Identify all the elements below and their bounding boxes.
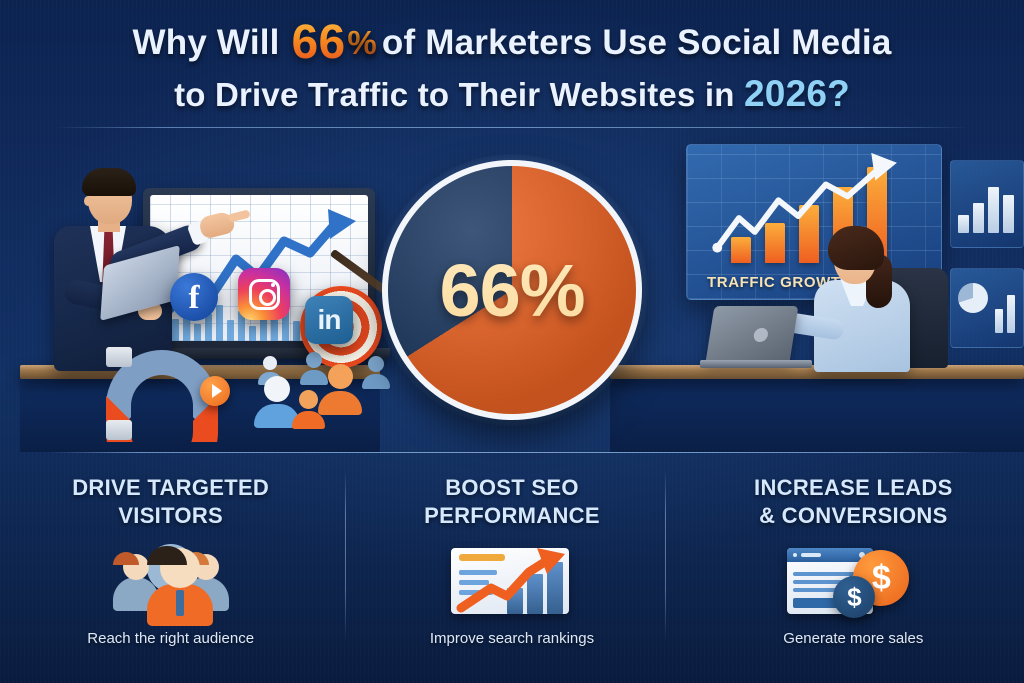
businesswoman-hair [828,226,884,270]
avatar-large-orange [318,364,362,415]
title-line-2: to Drive Traffic to Their Websites in 20… [0,74,1024,115]
instagram-camera-glyph [249,279,280,310]
laptop-right-base [700,360,812,368]
title-line2-text: to Drive Traffic to Their Websites in [174,75,735,115]
title-highlight-year: 2026? [744,74,850,114]
bottom-divider [48,452,976,453]
benefit-subtitle-1: Reach the right audience [87,630,254,647]
people-group-icon [0,538,341,624]
title-highlight-number: 66 [292,22,346,64]
side-screen-bars [950,160,1024,248]
benefit-heading-2: BOOST SEO PERFORMANCE [424,474,600,530]
magnet-tip-top [106,347,132,367]
header: Why Will 66%of Marketers Use Social Medi… [0,0,1024,128]
benefit-column-boost-seo-performance: BOOST SEO PERFORMANCE Impr [341,452,682,683]
benefit-subtitle-2: Improve search rankings [430,630,594,647]
benefit-heading-1: DRIVE TARGETED VISITORS [72,474,269,530]
title-part-post: of Marketers Use Social Media [382,22,892,64]
person-center-tie [176,590,184,616]
play-button-icon[interactable] [200,376,230,406]
title-part-pre: Why Will [133,22,280,64]
magnet-tip-bottom [106,420,132,440]
column-divider-2 [665,470,666,640]
infographic-canvas: Why Will 66%of Marketers Use Social Medi… [0,0,1024,683]
laptop-right-lid [706,306,799,362]
column-divider-1 [345,470,346,640]
seo-chart-glyph [451,544,573,618]
person-left-hair [113,552,139,565]
linkedin-glyph: in [318,306,341,334]
businesswoman-figure [790,220,940,370]
illustration-scene: f in [0,128,1024,452]
donut-value-label: 66% [382,160,642,420]
instagram-icon[interactable] [238,268,290,320]
laptop-logo [753,328,769,342]
facebook-glyph: f [189,282,200,315]
side-screen-pie [950,268,1024,348]
dollar-coin-blue: $ [833,576,875,618]
header-divider [55,127,969,128]
title-highlight-percent: % [347,22,377,64]
leads-glyph: $ $ [787,544,919,618]
webpage-dollar-icon: $ $ [683,538,1024,624]
linkedin-icon[interactable]: in [305,296,353,344]
benefit-heading-3: INCREASE LEADS & CONVERSIONS [754,474,953,530]
chart-arrow-up-icon [341,538,682,624]
laptop-right [700,306,804,368]
seo-orange-arrow [455,546,569,614]
desk-front-right [610,379,1024,452]
benefit-column-drive-targeted-visitors: DRIVE TARGETED VISITORS [0,452,341,683]
donut-chart: 66% [382,160,642,420]
facebook-icon[interactable]: f [170,273,218,321]
benefit-subtitle-3: Generate more sales [783,630,923,647]
people-group-glyph [107,542,235,620]
benefit-column-increase-leads-conversions: INCREASE LEADS & CONVERSIONS $ [683,452,1024,683]
benefits-row: DRIVE TARGETED VISITORS [0,452,1024,683]
person-center-hair [147,546,187,565]
businessman-ear [84,196,92,206]
businessman-hair [82,168,136,196]
title-line-1: Why Will 66%of Marketers Use Social Medi… [0,18,1024,64]
